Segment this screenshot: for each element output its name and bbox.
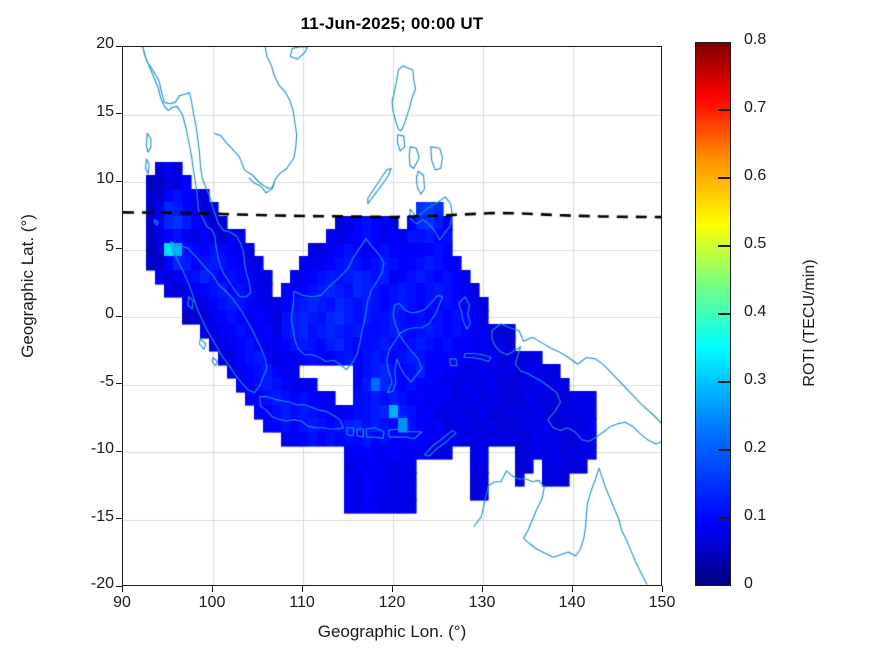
- x-axis-title: Geographic Lon. (°): [122, 622, 662, 642]
- colorbar-tick-label: 0.8: [744, 31, 794, 49]
- tick-mark: [116, 383, 122, 384]
- roti-map-figure: 11-Jun-2025; 00:00 UT -20-15-10-50510152…: [0, 0, 875, 656]
- page-title: 11-Jun-2025; 00:00 UT: [122, 14, 662, 34]
- map-axes: [122, 46, 662, 586]
- x-tick-label: 100: [182, 594, 242, 612]
- tick-mark: [116, 518, 122, 519]
- tick-mark: [662, 586, 663, 592]
- tick-mark: [482, 586, 483, 592]
- tick-mark: [122, 586, 123, 592]
- y-tick-label: -5: [66, 373, 114, 391]
- x-tick-label: 150: [632, 594, 692, 612]
- colorbar-tick-mark: [718, 177, 731, 178]
- colorbar-tick-mark: [718, 313, 731, 314]
- colorbar-tick-label: 0.1: [744, 507, 794, 525]
- colorbar-tick-mark: [718, 381, 731, 382]
- colorbar-tick-label: 0.2: [744, 439, 794, 457]
- x-tick-label: 140: [542, 594, 602, 612]
- colorbar-tick-label: 0.5: [744, 235, 794, 253]
- tick-mark: [116, 113, 122, 114]
- y-tick-label: 5: [66, 238, 114, 256]
- colorbar-tick-mark: [718, 245, 731, 246]
- colorbar-tick-label: 0.4: [744, 303, 794, 321]
- y-tick-label: 10: [66, 170, 114, 188]
- y-tick-label: 20: [66, 35, 114, 53]
- tick-mark: [572, 586, 573, 592]
- tick-mark: [392, 586, 393, 592]
- x-tick-label: 110: [272, 594, 332, 612]
- tick-mark: [116, 181, 122, 182]
- tick-mark: [116, 451, 122, 452]
- tick-mark: [116, 316, 122, 317]
- y-tick-label: 0: [66, 305, 114, 323]
- tick-mark: [212, 586, 213, 592]
- tick-mark: [116, 46, 122, 47]
- colorbar-tick-label: 0.6: [744, 167, 794, 185]
- x-tick-label: 130: [452, 594, 512, 612]
- colorbar-title: ROTI (TECU/min): [801, 113, 819, 533]
- y-tick-label: -20: [66, 575, 114, 593]
- y-axis-title: Geographic Lat. (°): [18, 76, 38, 496]
- tick-mark: [302, 586, 303, 592]
- x-tick-label: 90: [92, 594, 152, 612]
- tick-mark: [116, 248, 122, 249]
- colorbar-tick-mark: [718, 109, 731, 110]
- x-tick-label: 120: [362, 594, 422, 612]
- colorbar-tick-label: 0.3: [744, 371, 794, 389]
- y-tick-label: -15: [66, 508, 114, 526]
- colorbar-tick-mark: [718, 449, 731, 450]
- y-tick-label: -10: [66, 440, 114, 458]
- roti-heatmap-canvas: [123, 47, 662, 586]
- colorbar-tick-label: 0.7: [744, 99, 794, 117]
- colorbar-tick-label: 0: [744, 575, 794, 593]
- colorbar-tick-mark: [718, 517, 731, 518]
- y-tick-label: 15: [66, 103, 114, 121]
